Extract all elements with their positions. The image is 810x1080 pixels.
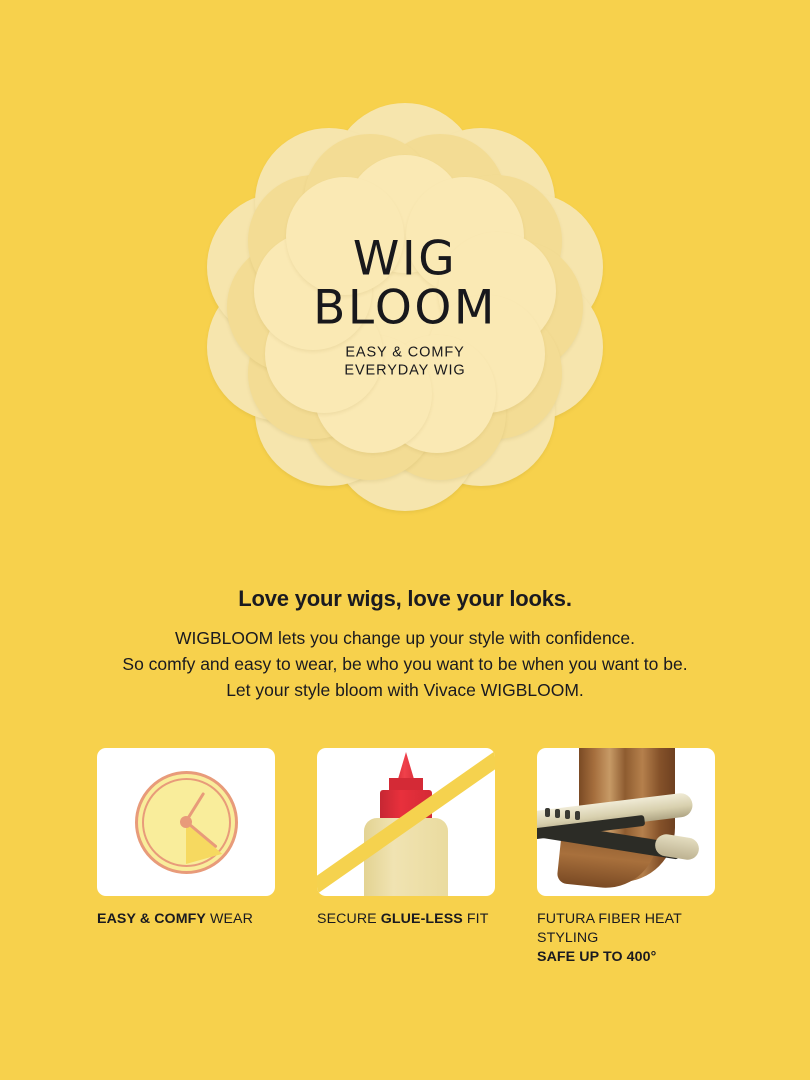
caption-pre: SECURE: [317, 911, 381, 927]
body-line-3: Let your style bloom with Vivace WIGBLOO…: [0, 677, 810, 703]
feature-glue-less: SECURE GLUE-LESS FIT: [317, 748, 495, 967]
logo-line-2: BLOOM: [255, 284, 555, 333]
no-glue-icon: [317, 748, 495, 896]
caption-bold: EASY & COMFY: [97, 911, 206, 927]
logo-wordmark: WIG BLOOM EASY & COMFY EVERYDAY WIG: [255, 235, 555, 380]
caption-rest: FIT: [463, 911, 489, 927]
caption-rest: WEAR: [206, 911, 253, 927]
clock-icon: [97, 748, 275, 896]
logo-tagline: EASY & COMFY EVERYDAY WIG: [255, 344, 555, 380]
feature-easy-comfy: EASY & COMFY WEAR: [97, 748, 275, 967]
caption-line-1: FUTURA FIBER HEAT: [537, 910, 715, 929]
logo-line-1: WIG: [255, 235, 555, 284]
feature-heat-styling: FUTURA FIBER HEAT STYLING SAFE UP TO 400…: [537, 748, 715, 967]
feature-list: EASY & COMFY WEAR SECURE GLUE-LESS FIT: [97, 748, 717, 967]
brand-logo: WIG BLOOM EASY & COMFY EVERYDAY WIG: [0, 122, 810, 492]
body-line-1: WIGBLOOM lets you change up your style w…: [0, 625, 810, 651]
feature-caption: SECURE GLUE-LESS FIT: [317, 910, 495, 929]
feature-caption: EASY & COMFY WEAR: [97, 910, 275, 929]
body-copy: WIGBLOOM lets you change up your style w…: [0, 625, 810, 703]
feature-caption: FUTURA FIBER HEAT STYLING SAFE UP TO 400…: [537, 910, 715, 967]
caption-line-2: STYLING: [537, 929, 715, 948]
flat-iron-icon: [537, 748, 715, 896]
marketing-copy: Love your wigs, love your looks. WIGBLOO…: [0, 586, 810, 703]
logo-tagline-line-1: EASY & COMFY: [255, 344, 555, 362]
caption-bold: GLUE-LESS: [381, 911, 463, 927]
headline: Love your wigs, love your looks.: [0, 586, 810, 612]
caption-bold: SAFE UP TO 400°: [537, 949, 656, 965]
body-line-2: So comfy and easy to wear, be who you wa…: [0, 651, 810, 677]
logo-tagline-line-2: EVERYDAY WIG: [255, 362, 555, 380]
